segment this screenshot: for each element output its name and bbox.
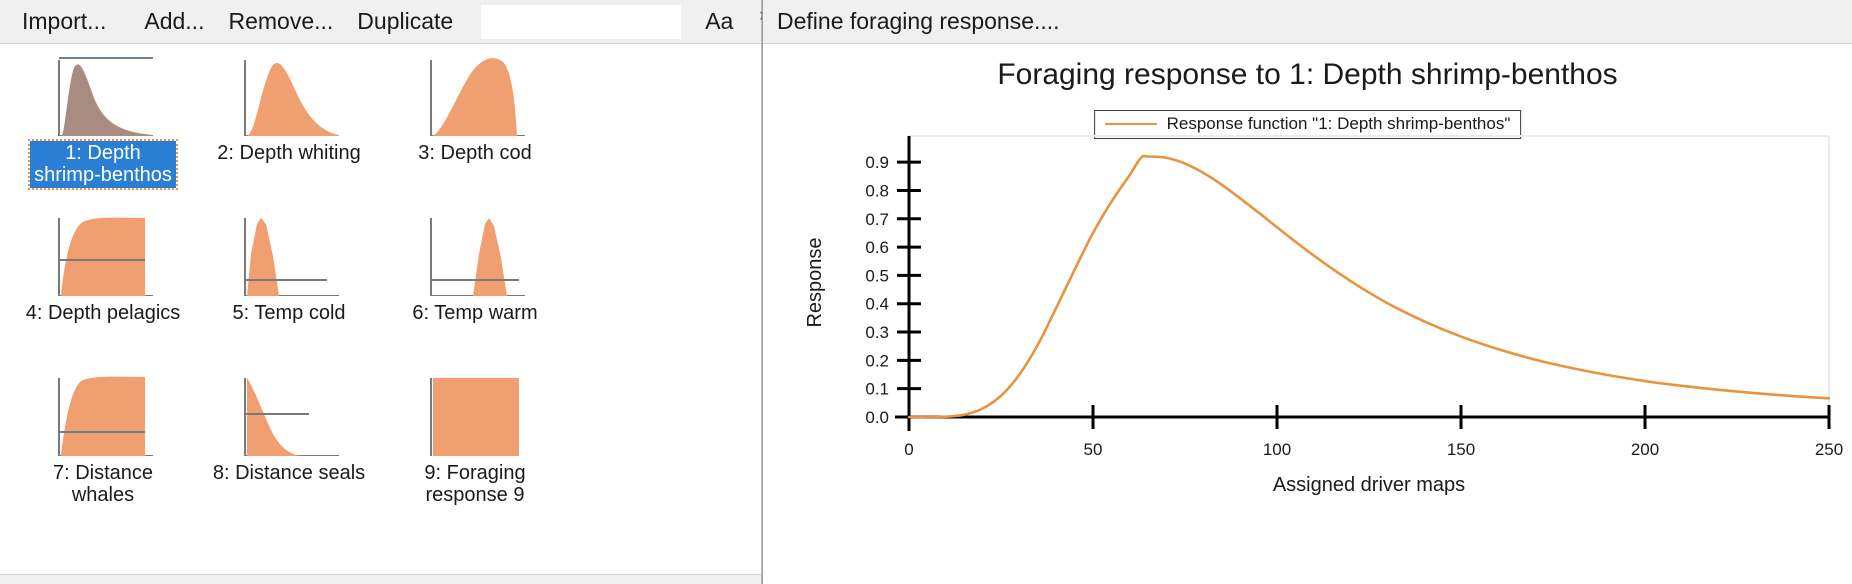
x-tick-label: 100: [1263, 440, 1291, 459]
list-item[interactable]: 5: Temp cold: [196, 210, 382, 370]
list-item-label: 4: Depth pelagics: [22, 301, 185, 325]
y-tick-label: 0.6: [865, 238, 889, 257]
thumbnail-chart: [235, 374, 343, 456]
text-size-aa-icon[interactable]: Aa: [699, 5, 739, 38]
rising-plateau-icon: [49, 214, 157, 296]
y-tick-label: 0.5: [865, 266, 889, 285]
thumbnail-chart: [421, 214, 529, 296]
y-tick-label: 0.1: [865, 380, 889, 399]
x-tick-label: 150: [1447, 440, 1475, 459]
list-item-label: 2: Depth whiting: [213, 141, 364, 165]
list-item[interactable]: 6: Temp warm: [382, 210, 568, 370]
right-skew-peak-icon: [49, 54, 157, 136]
list-item-label: 5: Temp cold: [228, 301, 349, 325]
list-item[interactable]: 4: Depth pelagics: [10, 210, 196, 370]
left-skew-peak-icon: [421, 54, 529, 136]
y-tick-label: 0.0: [865, 408, 889, 427]
thumbnail-chart: [49, 214, 157, 296]
search-input[interactable]: [481, 5, 681, 39]
y-axis-title: Response: [804, 237, 826, 327]
thumbnail-chart: [49, 54, 157, 136]
x-tick-label: 250: [1815, 440, 1843, 459]
foraging-response-panel: Define foraging response.... Foraging re…: [762, 0, 1852, 584]
list-item-label: 7: Distance whales: [49, 461, 157, 508]
x-tick-label: 200: [1631, 440, 1659, 459]
flat-full-icon: [421, 374, 529, 456]
duplicate-button[interactable]: Duplicate: [345, 7, 465, 36]
list-item-label: 3: Depth cod: [414, 141, 535, 165]
y-tick-label: 0.4: [865, 295, 889, 314]
x-tick-label: 0: [904, 440, 913, 459]
thumbnail-chart: [235, 214, 343, 296]
response-curve: [909, 156, 1829, 417]
y-tick-label: 0.3: [865, 323, 889, 342]
thumbnail-chart: [421, 54, 529, 136]
thumbnail-row: 4: Depth pelagics 5: Temp cold: [0, 210, 761, 370]
y-tick-label: 0.7: [865, 210, 889, 229]
narrow-mid-peak-icon: [421, 214, 529, 296]
list-item-label: 8: Distance seals: [209, 461, 369, 485]
thumbnail-row: 1: Depth shrimp-benthos 2: Depth whiting: [0, 50, 761, 210]
thumbnail-chart: [235, 54, 343, 136]
decay-icon: [235, 374, 343, 456]
list-item[interactable]: 3: Depth cod: [382, 50, 568, 210]
add-button[interactable]: Add...: [132, 7, 216, 36]
list-item[interactable]: 7: Distance whales: [10, 370, 196, 530]
thumbnail-row: 7: Distance whales 8: Distance seals: [0, 370, 761, 530]
import-button[interactable]: Import...: [10, 7, 118, 36]
thumbnail-chart: [49, 374, 157, 456]
list-item[interactable]: 2: Depth whiting: [196, 50, 382, 210]
list-item-label: 1: Depth shrimp-benthos: [30, 141, 176, 188]
list-item-label: 6: Temp warm: [408, 301, 541, 325]
y-tick-label: 0.8: [865, 181, 889, 200]
left-status-bar: [0, 574, 761, 584]
application-window: Import... Add... Remove... Duplicate Aa …: [0, 0, 1852, 584]
panel-title: Define foraging response....: [777, 8, 1060, 35]
list-item[interactable]: 8: Distance seals: [196, 370, 382, 530]
response-library-panel: Import... Add... Remove... Duplicate Aa …: [0, 0, 762, 584]
x-axis-title: Assigned driver maps: [1273, 474, 1465, 496]
list-item[interactable]: 9: Foraging response 9: [382, 370, 568, 530]
thumbnail-chart: [421, 374, 529, 456]
y-tick-label: 0.2: [865, 351, 889, 370]
y-tick-label: 0.9: [865, 153, 889, 172]
rising-plateau-icon: [49, 374, 157, 456]
library-toolbar: Import... Add... Remove... Duplicate Aa …: [0, 0, 761, 44]
x-tick-label: 50: [1084, 440, 1103, 459]
response-thumbnail-grid: 1: Depth shrimp-benthos 2: Depth whiting: [0, 44, 761, 574]
list-item-label: 9: Foraging response 9: [420, 461, 529, 508]
panel-header: Define foraging response....: [763, 0, 1852, 44]
response-curve-plot: 0.00.10.20.30.40.50.60.70.80.90501001502…: [763, 44, 1852, 584]
remove-button[interactable]: Remove...: [216, 7, 345, 36]
chart-container: Foraging response to 1: Depth shrimp-ben…: [763, 44, 1852, 584]
narrow-left-peak-icon: [235, 214, 343, 296]
right-skew-peak-icon: [235, 54, 343, 136]
list-item[interactable]: 1: Depth shrimp-benthos: [10, 50, 196, 210]
